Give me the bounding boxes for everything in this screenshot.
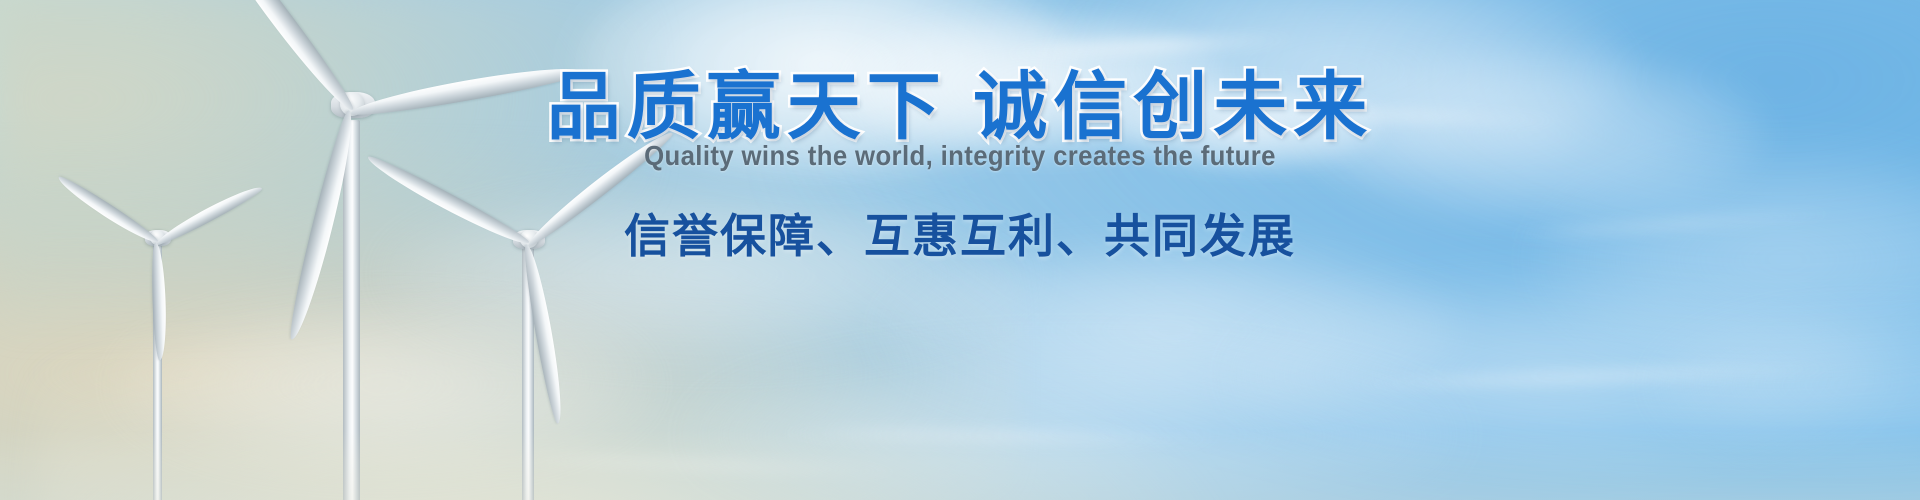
banner-tagline: 信誉保障、互惠互利、共同发展 [0, 200, 1920, 266]
banner-subtitle-english: Quality wins the world, integrity create… [77, 140, 1843, 172]
banner-headline: 品质赢天下 诚信创未来 [0, 68, 1920, 146]
ground-fade [0, 430, 1920, 500]
hero-banner: 品质赢天下 诚信创未来 Quality wins the world, inte… [0, 0, 1920, 500]
